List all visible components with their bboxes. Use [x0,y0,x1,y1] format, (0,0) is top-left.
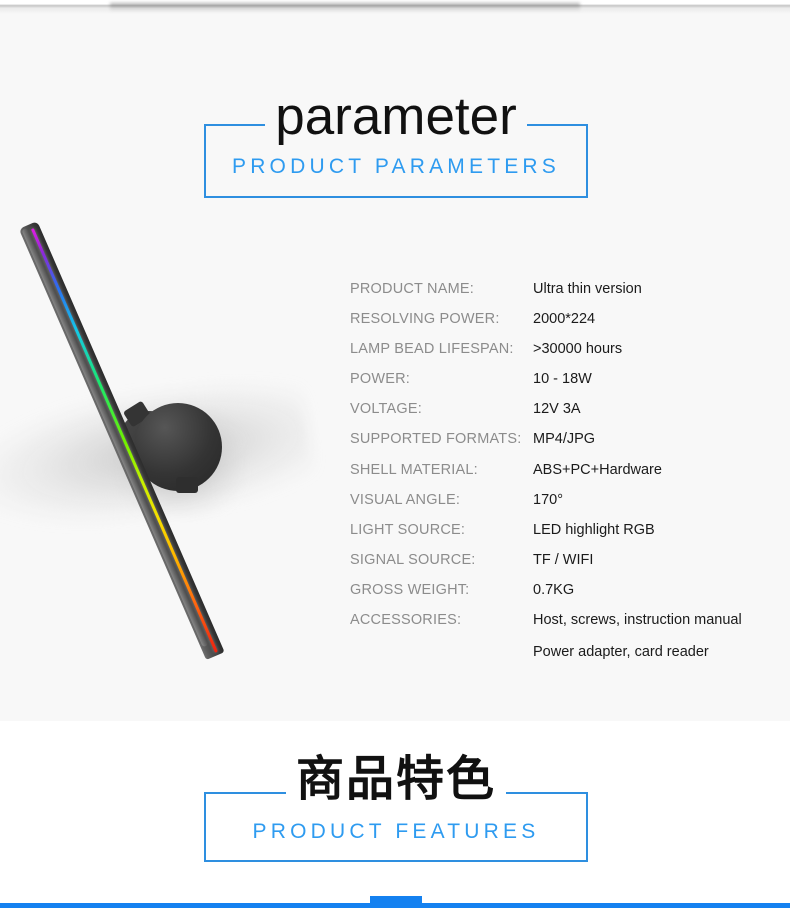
spec-value: 10 - 18W [533,371,592,387]
spec-value: Ultra thin version [533,281,642,297]
table-row: ACCESSORIES: Host, screws, instruction m… [350,612,780,642]
spec-value: 12V 3A [533,401,581,417]
spec-label: SUPPORTED FORMATS: [350,431,521,447]
product-image [0,215,400,695]
parameters-section: parameter PRODUCT PARAMETERS PRODUCT NAM… [0,0,790,721]
heading-subtitle: PRODUCT PARAMETERS [204,155,588,179]
table-row: LAMP BEAD LIFESPAN: >30000 hours [350,341,780,371]
spec-value: 170° [533,492,563,508]
table-row: SHELL MATERIAL: ABS+PC+Hardware [350,462,780,492]
bottom-edge-fill [0,908,790,915]
spec-value-line2: Power adapter, card reader [533,644,742,660]
spec-label: LIGHT SOURCE: [350,522,465,538]
spec-value: >30000 hours [533,341,622,357]
heading-title: parameter [204,90,588,143]
table-row: VOLTAGE: 12V 3A [350,401,780,431]
spec-label: ACCESSORIES: [350,612,461,628]
spec-label: VISUAL ANGLE: [350,492,460,508]
heading-subtitle: PRODUCT FEATURES [204,820,588,844]
bottom-accent-tab [370,896,422,908]
spec-label: POWER: [350,371,410,387]
spec-label: VOLTAGE: [350,401,422,417]
spec-label: GROSS WEIGHT: [350,582,469,598]
table-row: LIGHT SOURCE: LED highlight RGB [350,522,780,552]
spec-value: MP4/JPG [533,431,595,447]
spec-value: LED highlight RGB [533,522,655,538]
features-heading: 商品特色 PRODUCT FEATURES [204,792,588,862]
spec-label: SIGNAL SOURCE: [350,552,476,568]
spec-label: LAMP BEAD LIFESPAN: [350,341,514,357]
table-row: RESOLVING POWER: 2000*224 [350,311,780,341]
table-row: SIGNAL SOURCE: TF / WIFI [350,552,780,582]
top-edge-seam [0,0,790,14]
spec-value: ABS+PC+Hardware [533,462,662,478]
spec-value: 2000*224 [533,311,595,327]
spec-value: TF / WIFI [533,552,593,568]
spec-value-line1: Host, screws, instruction manual [533,612,742,628]
spec-label: RESOLVING POWER: [350,311,500,327]
table-row: GROSS WEIGHT: 0.7KG [350,582,780,612]
specification-table: PRODUCT NAME: Ultra thin version RESOLVI… [350,281,780,642]
spec-label: PRODUCT NAME: [350,281,474,297]
spec-value: 0.7KG [533,582,574,598]
fan-hub-mount-lower [176,477,198,493]
table-row: POWER: 10 - 18W [350,371,780,401]
parameters-heading: parameter PRODUCT PARAMETERS [204,124,588,198]
table-row: PRODUCT NAME: Ultra thin version [350,281,780,311]
table-row: SUPPORTED FORMATS: MP4/JPG [350,431,780,461]
heading-title: 商品特色 [204,756,588,804]
spec-label: SHELL MATERIAL: [350,462,478,478]
table-row: VISUAL ANGLE: 170° [350,492,780,522]
spec-value: Host, screws, instruction manual Power a… [533,612,742,660]
